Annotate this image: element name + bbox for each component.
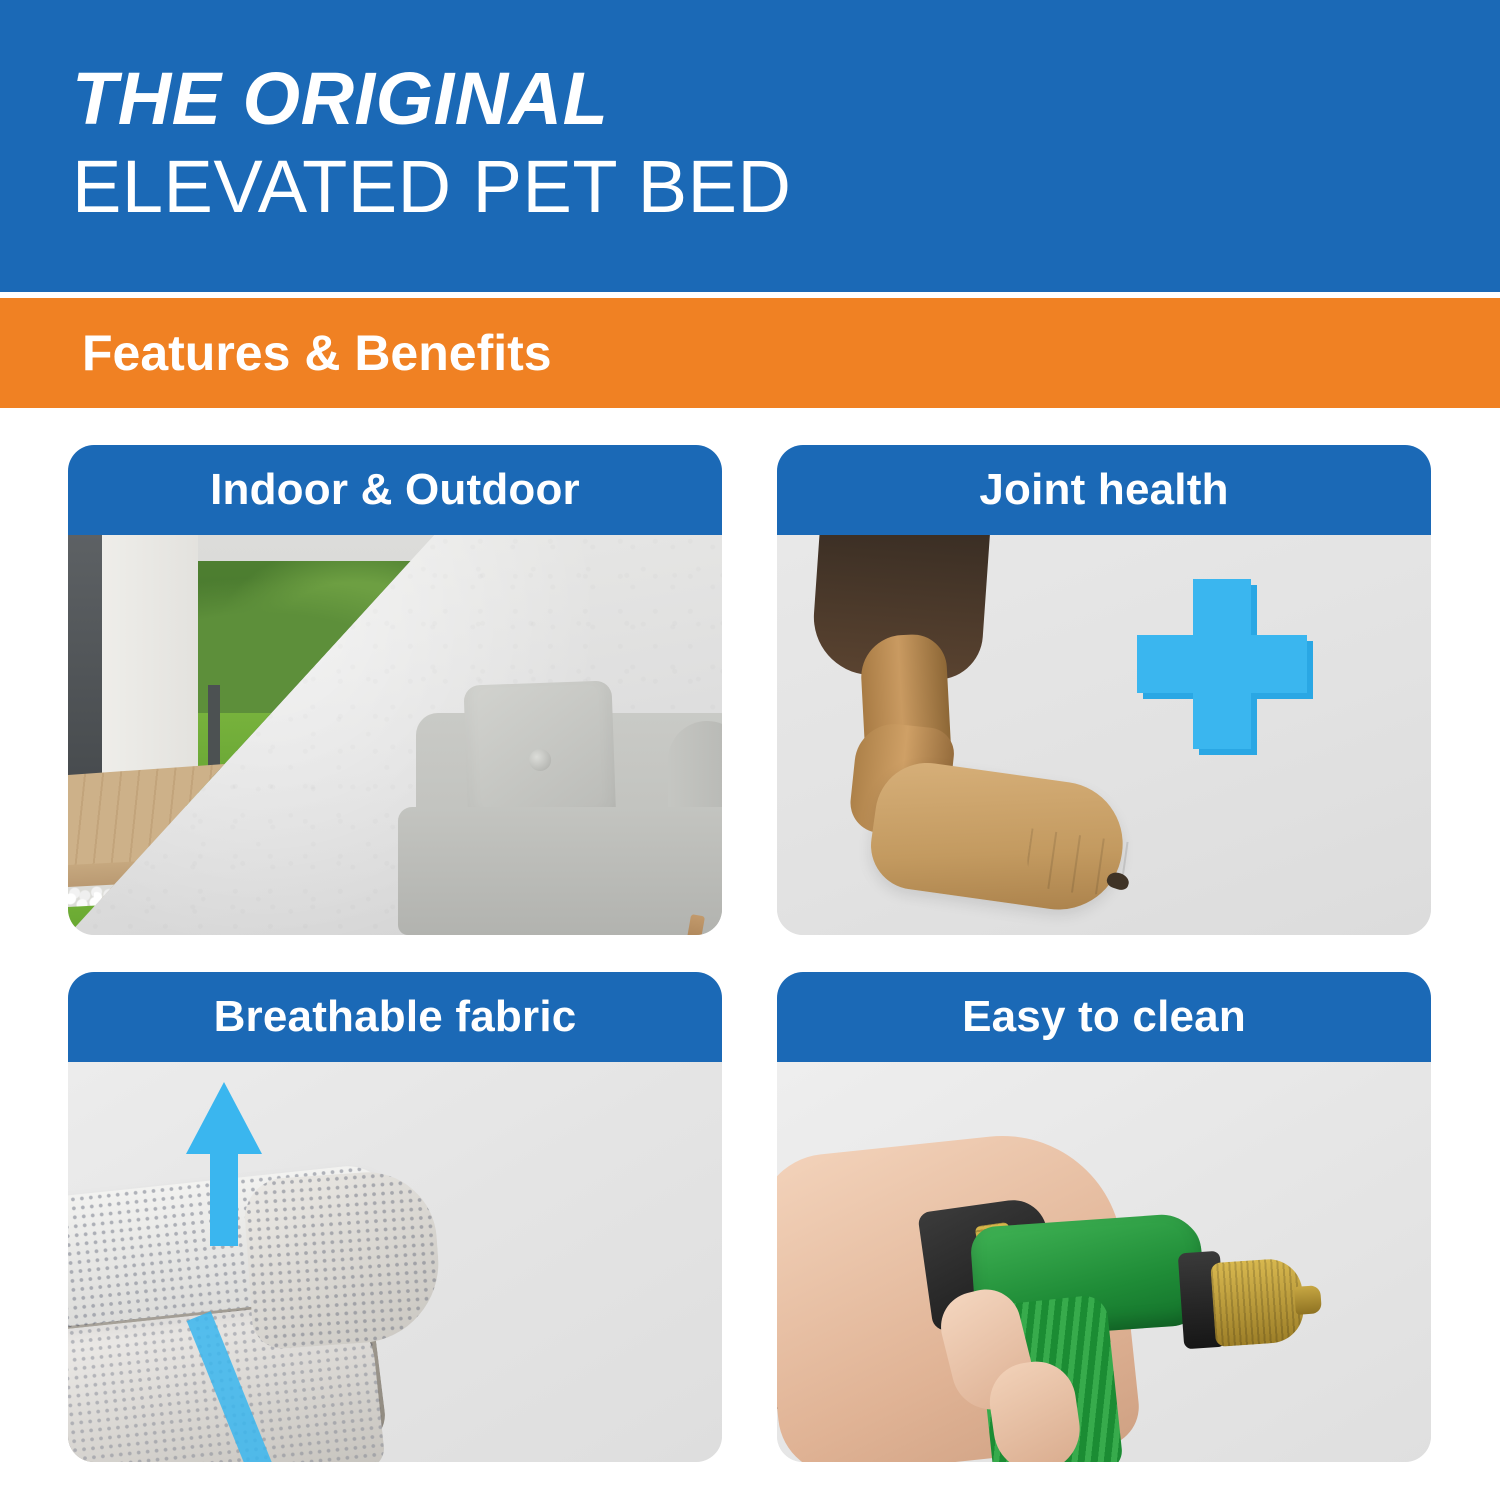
card-title-indoor-outdoor: Indoor & Outdoor	[210, 465, 580, 515]
features-benefits-band: Features & Benefits	[0, 298, 1500, 408]
feature-card-easy-to-clean: Easy to clean	[777, 972, 1431, 1462]
joint-health-illustration	[777, 535, 1431, 935]
brass-nozzle-head	[1210, 1257, 1306, 1347]
hero-title-line-1: THE ORIGINAL	[72, 62, 791, 136]
card-header-indoor-outdoor: Indoor & Outdoor	[68, 445, 722, 535]
hero-banner: THE ORIGINAL ELEVATED PET BED	[0, 0, 1500, 292]
breathable-fabric-illustration	[68, 1062, 722, 1462]
card-title-easy-to-clean: Easy to clean	[962, 992, 1246, 1042]
card-image-breathable-fabric	[68, 1062, 722, 1462]
cross-horizontal-bar	[1137, 635, 1307, 693]
card-header-easy-to-clean: Easy to clean	[777, 972, 1431, 1062]
arrow-stem	[210, 1140, 238, 1246]
cushion-button	[529, 749, 552, 772]
card-image-joint-health	[777, 535, 1431, 935]
hero-title-line-2: ELEVATED PET BED	[72, 150, 791, 224]
product-feature-infographic: THE ORIGINAL ELEVATED PET BED Features &…	[0, 0, 1500, 1500]
patio-door	[68, 535, 102, 785]
feature-card-joint-health: Joint health	[777, 445, 1431, 935]
card-header-joint-health: Joint health	[777, 445, 1431, 535]
card-image-indoor-outdoor	[68, 535, 722, 935]
sofa-seat	[398, 807, 722, 935]
indoor-outdoor-illustration	[68, 535, 722, 935]
railing-post	[208, 685, 220, 777]
card-header-breathable-fabric: Breathable fabric	[68, 972, 722, 1062]
card-title-breathable-fabric: Breathable fabric	[214, 992, 577, 1042]
feature-card-indoor-outdoor: Indoor & Outdoor	[68, 445, 722, 935]
medical-cross-icon	[1137, 579, 1307, 749]
house-pillar	[98, 535, 198, 803]
arrow-head	[186, 1082, 262, 1154]
feature-card-breathable-fabric: Breathable fabric	[68, 972, 722, 1462]
card-image-easy-to-clean	[777, 1062, 1431, 1462]
card-title-joint-health: Joint health	[979, 465, 1228, 515]
nozzle-spray-tip	[1294, 1285, 1322, 1315]
hero-title-block: THE ORIGINAL ELEVATED PET BED	[72, 62, 791, 224]
easy-to-clean-illustration	[777, 1062, 1431, 1462]
section-heading: Features & Benefits	[82, 324, 552, 382]
airflow-up-arrow-icon	[186, 1082, 262, 1242]
